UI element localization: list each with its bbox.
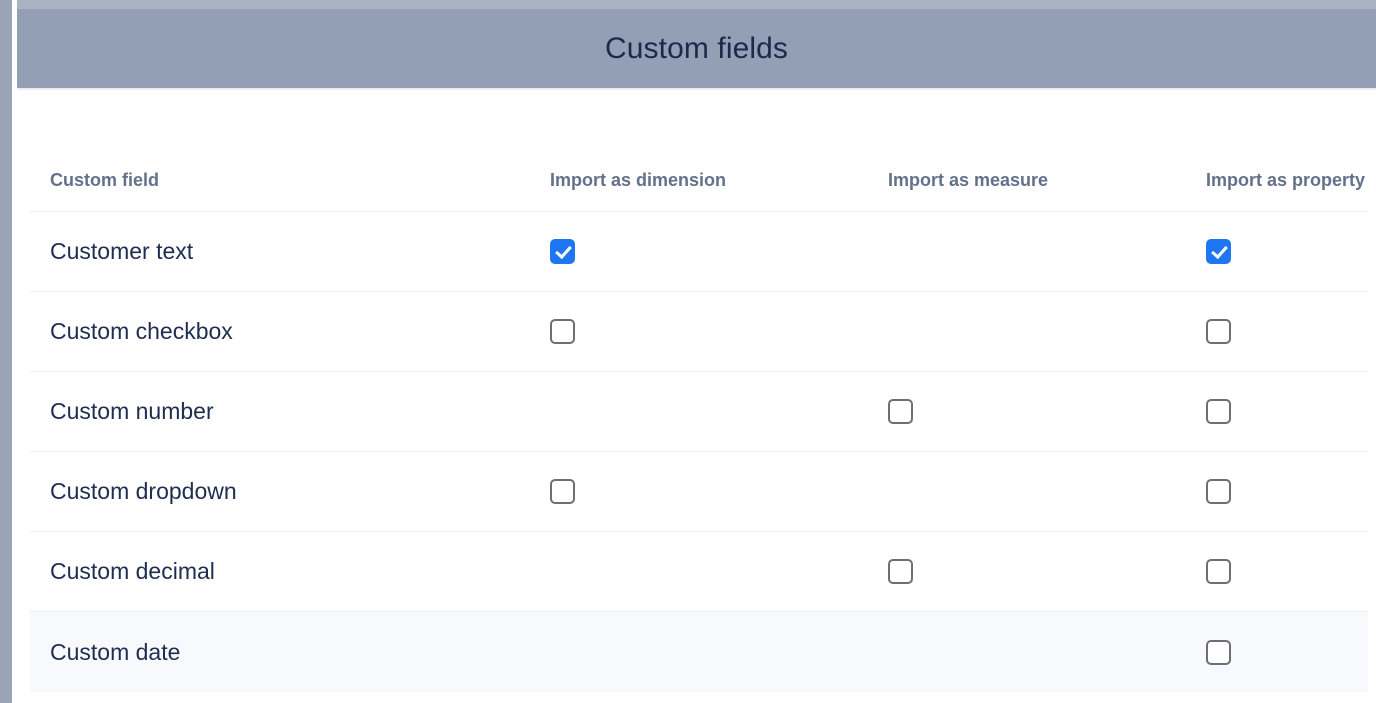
column-header-import-as-property: Import as property <box>1206 167 1368 193</box>
checkbox-import-as-property[interactable] <box>1206 239 1231 264</box>
cell-import-as-dimension <box>550 319 888 344</box>
checkbox-import-as-property[interactable] <box>1206 319 1231 344</box>
custom-field-name: Custom decimal <box>30 560 550 583</box>
cell-empty <box>550 557 575 582</box>
cell-import-as-property <box>1206 640 1368 665</box>
cell-import-as-dimension <box>550 397 888 427</box>
custom-field-name: Custom date <box>30 641 550 664</box>
dialog-header: Custom fields <box>17 9 1376 88</box>
table-row: Custom number <box>30 372 1368 452</box>
table-header-row: Custom field Import as dimension Import … <box>30 96 1368 212</box>
table-row: Custom date <box>30 612 1368 692</box>
header-divider <box>17 88 1376 90</box>
cell-import-as-measure <box>888 477 1206 507</box>
checkbox-import-as-property[interactable] <box>1206 399 1231 424</box>
custom-field-name: Custom number <box>30 400 550 423</box>
table-row: Custom decimal <box>30 532 1368 612</box>
custom-field-name: Customer text <box>30 240 550 263</box>
cell-import-as-property <box>1206 239 1368 264</box>
cell-import-as-dimension <box>550 479 888 504</box>
cell-import-as-measure <box>888 237 1206 267</box>
table-row: Custom checkbox <box>30 292 1368 372</box>
column-header-import-as-measure: Import as measure <box>888 167 1206 193</box>
cell-empty <box>888 317 913 342</box>
custom-field-name: Custom dropdown <box>30 480 550 503</box>
table-body: Customer textCustom checkboxCustom numbe… <box>30 212 1368 692</box>
page-title: Custom fields <box>605 34 788 64</box>
window-top-strip <box>0 0 1376 9</box>
cell-empty <box>550 637 575 662</box>
cell-empty <box>550 397 575 422</box>
cell-empty <box>888 237 913 262</box>
cell-import-as-dimension <box>550 637 888 667</box>
checkbox-import-as-measure[interactable] <box>888 559 913 584</box>
table-row: Custom dropdown <box>30 452 1368 532</box>
checkbox-import-as-dimension[interactable] <box>550 479 575 504</box>
checkbox-import-as-measure[interactable] <box>888 399 913 424</box>
cell-import-as-property <box>1206 479 1368 504</box>
cell-import-as-dimension <box>550 557 888 587</box>
checkbox-import-as-dimension[interactable] <box>550 239 575 264</box>
checkbox-import-as-dimension[interactable] <box>550 319 575 344</box>
cell-import-as-measure <box>888 559 1206 584</box>
table-row: Customer text <box>30 212 1368 292</box>
cell-import-as-measure <box>888 399 1206 424</box>
checkbox-import-as-property[interactable] <box>1206 559 1231 584</box>
page-edge-strip <box>0 0 12 703</box>
cell-empty <box>888 477 913 502</box>
dialog-viewport: Custom fields Custom field Import as dim… <box>0 0 1376 703</box>
custom-field-name: Custom checkbox <box>30 320 550 343</box>
page-edge-gap <box>12 0 17 703</box>
cell-import-as-measure <box>888 317 1206 347</box>
checkbox-import-as-property[interactable] <box>1206 640 1231 665</box>
column-header-custom-field: Custom field <box>30 167 550 193</box>
cell-import-as-property <box>1206 319 1368 344</box>
cell-import-as-property <box>1206 399 1368 424</box>
column-header-import-as-dimension: Import as dimension <box>550 167 888 193</box>
cell-import-as-dimension <box>550 239 888 264</box>
cell-empty <box>888 637 913 662</box>
checkbox-import-as-property[interactable] <box>1206 479 1231 504</box>
cell-import-as-property <box>1206 559 1368 584</box>
custom-fields-table: Custom field Import as dimension Import … <box>30 96 1368 692</box>
cell-import-as-measure <box>888 637 1206 667</box>
